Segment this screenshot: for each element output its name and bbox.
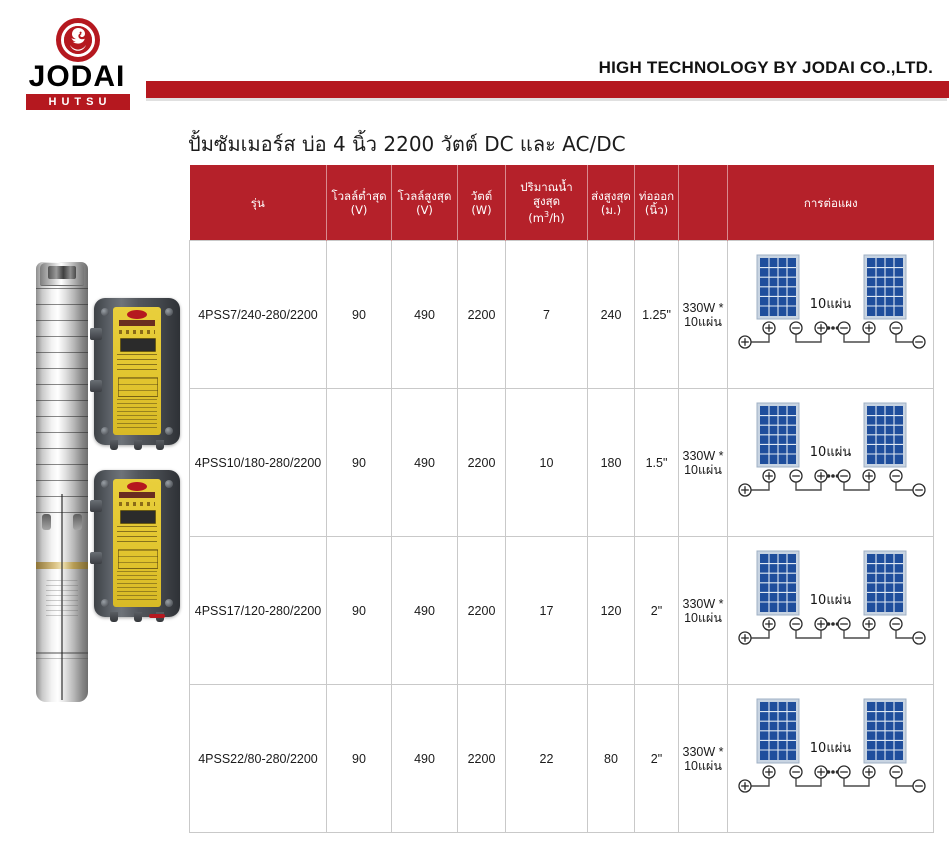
terminal-minus-mid-right <box>838 322 850 334</box>
col-header-volt-min: โวลล์ต่ำสุด (V) <box>327 165 392 241</box>
cell-outlet: 1.25" <box>635 241 679 389</box>
dragon-glyph-icon <box>64 25 92 55</box>
panel-wiring-diagram: 10แผ่น <box>729 545 932 677</box>
panel-wiring-diagram: 10แผ่น <box>729 249 932 381</box>
panel-count-label: 10แผ่น <box>729 441 932 462</box>
panel-wiring-diagram: 10แผ่น <box>729 397 932 529</box>
cell-volt-min: 90 <box>327 389 392 537</box>
terminal-minus-panel1 <box>790 322 802 334</box>
panel-spec-line2: 10แผ่น <box>680 759 726 773</box>
col-header-flow-label: ปริมาณน้ำสูงสุด <box>508 180 585 208</box>
cell-model: 4PSS10/180-280/2200 <box>190 389 327 537</box>
submersible-pump-image <box>36 262 88 702</box>
header-red-rule <box>146 81 949 98</box>
table-body: 4PSS7/240-280/2200 90 490 2200 7 240 1.2… <box>190 241 934 833</box>
panel-count-label: 10แผ่น <box>729 589 932 610</box>
controller-image-2 <box>94 470 180 617</box>
panel-count-label: 10แผ่น <box>729 293 932 314</box>
col-header-model: รุ่น <box>190 165 327 241</box>
col-header-watt-label: วัตต์ <box>460 189 503 203</box>
terminal-plus-in <box>739 632 751 644</box>
page-title: ปั้มซัมเมอร์ส บ่อ 4 นิ้ว 2200 วัตต์ DC แ… <box>188 128 626 160</box>
terminal-minus-mid-right <box>838 470 850 482</box>
col-header-flow: ปริมาณน้ำสูงสุด (m3/h) <box>506 165 588 241</box>
terminal-plus-mid-left <box>815 470 827 482</box>
panel-spec-line2: 10แผ่น <box>680 315 726 329</box>
panel-spec-line2: 10แผ่น <box>680 611 726 625</box>
panel-spec-line1: 330W * <box>680 449 726 463</box>
panel-wiring-diagram: 10แผ่น <box>729 693 932 825</box>
table-row: 4PSS10/180-280/2200 90 490 2200 10 180 1… <box>190 389 934 537</box>
terminal-plus-panel-last <box>863 766 875 778</box>
cell-head-max: 120 <box>588 537 635 685</box>
cell-panel-wiring: 10แผ่น <box>728 685 934 833</box>
cell-watt: 2200 <box>458 685 506 833</box>
terminal-plus-panel1 <box>763 618 775 630</box>
terminal-minus-panel-last <box>890 766 902 778</box>
panel-spec-line1: 330W * <box>680 597 726 611</box>
cell-flow-max: 17 <box>506 537 588 685</box>
col-header-watt: วัตต์ (W) <box>458 165 506 241</box>
cell-panel-spec: 330W * 10แผ่น <box>679 241 728 389</box>
terminal-plus-mid-left <box>815 322 827 334</box>
cell-head-max: 180 <box>588 389 635 537</box>
terminal-minus-panel-last <box>890 618 902 630</box>
dragon-emblem-icon <box>56 18 100 62</box>
panel-spec-line1: 330W * <box>680 745 726 759</box>
cell-panel-wiring: 10แผ่น <box>728 241 934 389</box>
cell-volt-max: 490 <box>392 537 458 685</box>
col-header-outlet-label: ท่อออก <box>637 189 676 203</box>
col-header-outlet: ท่อออก (นิ้ว) <box>635 165 679 241</box>
cell-model: 4PSS22/80-280/2200 <box>190 685 327 833</box>
cell-model: 4PSS17/120-280/2200 <box>190 537 327 685</box>
page-header: JODAI HUTSU HIGH TECHNOLOGY BY JODAI CO.… <box>0 0 949 118</box>
table-row: 4PSS17/120-280/2200 90 490 2200 17 120 2… <box>190 537 934 685</box>
terminal-minus-panel1 <box>790 470 802 482</box>
terminal-minus-mid-right <box>838 618 850 630</box>
specification-table: รุ่น โวลล์ต่ำสุด (V) โวลล์สูงสุด (V) วัต… <box>189 165 934 833</box>
terminal-plus-panel1 <box>763 470 775 482</box>
cell-volt-max: 490 <box>392 685 458 833</box>
cell-flow-max: 22 <box>506 685 588 833</box>
terminal-minus-out <box>913 632 925 644</box>
col-header-head-label: ส่งสูงสุด <box>590 189 632 203</box>
header-tagline: HIGH TECHNOLOGY BY JODAI CO.,LTD. <box>599 58 933 78</box>
company-logo: JODAI HUTSU <box>16 18 138 102</box>
col-header-outlet-unit: (นิ้ว) <box>637 203 676 217</box>
terminal-plus-in <box>739 336 751 348</box>
col-header-volt-min-label: โวลล์ต่ำสุด <box>329 189 389 203</box>
terminal-minus-out <box>913 780 925 792</box>
terminal-plus-in <box>739 484 751 496</box>
panel-spec-line2: 10แผ่น <box>680 463 726 477</box>
cell-panel-wiring: 10แผ่น <box>728 389 934 537</box>
col-header-model-label: รุ่น <box>192 196 325 210</box>
cell-outlet: 1.5" <box>635 389 679 537</box>
cell-flow-max: 10 <box>506 389 588 537</box>
cell-outlet: 2" <box>635 537 679 685</box>
col-header-panel-spec <box>679 165 728 241</box>
header-rule-shadow <box>146 98 947 101</box>
wiring-terminals <box>739 618 925 644</box>
col-header-panel-wiring-label: การต่อแผง <box>730 196 932 210</box>
terminal-plus-panel-last <box>863 470 875 482</box>
col-header-panel-wiring: การต่อแผง <box>728 165 934 241</box>
col-header-volt-max: โวลล์สูงสุด (V) <box>392 165 458 241</box>
terminal-plus-panel-last <box>863 322 875 334</box>
terminal-plus-mid-left <box>815 766 827 778</box>
col-header-watt-unit: (W) <box>460 203 503 217</box>
cell-volt-max: 490 <box>392 389 458 537</box>
cell-volt-min: 90 <box>327 241 392 389</box>
panel-spec-line1: 330W * <box>680 301 726 315</box>
terminal-plus-panel-last <box>863 618 875 630</box>
cell-head-max: 240 <box>588 241 635 389</box>
wiring-terminals <box>739 766 925 792</box>
cell-head-max: 80 <box>588 685 635 833</box>
col-header-head: ส่งสูงสุด (ม.) <box>588 165 635 241</box>
terminal-minus-panel1 <box>790 618 802 630</box>
cell-panel-spec: 330W * 10แผ่น <box>679 537 728 685</box>
terminal-plus-panel1 <box>763 322 775 334</box>
wiring-terminals <box>739 322 925 348</box>
cell-volt-min: 90 <box>327 685 392 833</box>
cell-watt: 2200 <box>458 241 506 389</box>
table-header-row: รุ่น โวลล์ต่ำสุด (V) โวลล์สูงสุด (V) วัต… <box>190 165 934 241</box>
terminal-plus-panel1 <box>763 766 775 778</box>
cell-panel-wiring: 10แผ่น <box>728 537 934 685</box>
terminal-minus-panel-last <box>890 322 902 334</box>
cell-panel-spec: 330W * 10แผ่น <box>679 389 728 537</box>
cell-panel-spec: 330W * 10แผ่น <box>679 685 728 833</box>
cell-watt: 2200 <box>458 389 506 537</box>
wiring-terminals <box>739 470 925 496</box>
cell-outlet: 2" <box>635 685 679 833</box>
terminal-minus-mid-right <box>838 766 850 778</box>
terminal-minus-panel1 <box>790 766 802 778</box>
col-header-head-unit: (ม.) <box>590 203 632 217</box>
col-header-volt-max-label: โวลล์สูงสุด <box>394 189 455 203</box>
col-header-volt-max-unit: (V) <box>394 203 455 217</box>
product-photos <box>18 258 186 708</box>
panel-count-label: 10แผ่น <box>729 737 932 758</box>
terminal-minus-panel-last <box>890 470 902 482</box>
col-header-flow-unit: (m3/h) <box>508 208 585 225</box>
table-row: 4PSS7/240-280/2200 90 490 2200 7 240 1.2… <box>190 241 934 389</box>
col-header-volt-min-unit: (V) <box>329 203 389 217</box>
cell-watt: 2200 <box>458 537 506 685</box>
terminal-plus-in <box>739 780 751 792</box>
terminal-minus-out <box>913 336 925 348</box>
table-row: 4PSS22/80-280/2200 90 490 2200 22 80 2" … <box>190 685 934 833</box>
cell-volt-max: 490 <box>392 241 458 389</box>
terminal-plus-mid-left <box>815 618 827 630</box>
terminal-minus-out <box>913 484 925 496</box>
controller-image-1 <box>94 298 180 445</box>
cell-flow-max: 7 <box>506 241 588 389</box>
logo-subtext: HUTSU <box>26 94 130 110</box>
logo-wordmark: JODAI <box>16 62 138 92</box>
cell-model: 4PSS7/240-280/2200 <box>190 241 327 389</box>
cell-volt-min: 90 <box>327 537 392 685</box>
